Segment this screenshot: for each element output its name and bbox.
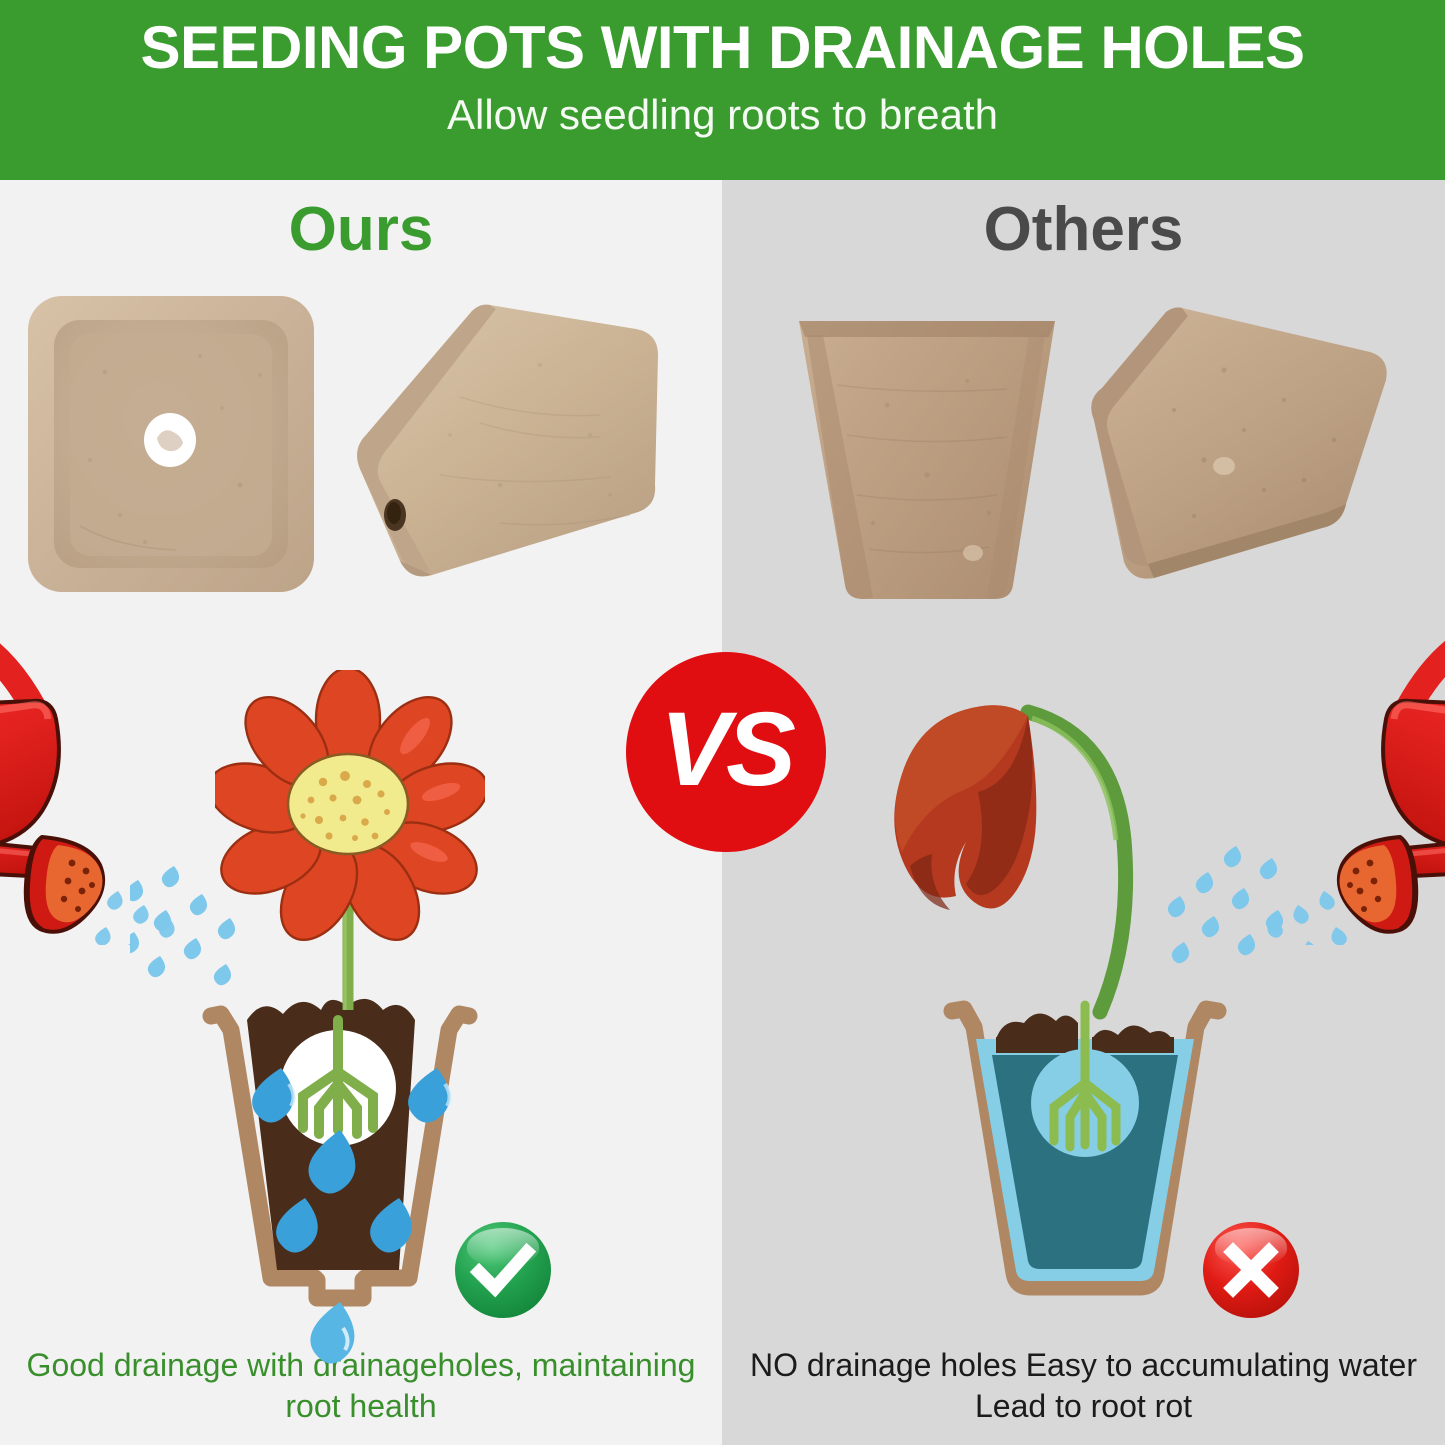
page-title: SEEDING POTS WITH DRAINAGE HOLES — [140, 16, 1304, 79]
cross-badge — [1203, 1222, 1299, 1318]
left-comparison-panel: Ours — [0, 180, 722, 1445]
vs-badge: VS — [626, 652, 826, 852]
page-subtitle: Allow seedling roots to breath — [447, 93, 998, 137]
pot-without-drainage-illustration — [930, 975, 1240, 1335]
square-pot-top-view-with-drainage-hole-photo — [10, 280, 330, 610]
header-banner: SEEDING POTS WITH DRAINAGE HOLES Allow s… — [0, 0, 1445, 180]
right-comparison-panel: Others — [722, 180, 1445, 1445]
wilted-red-flower-illustration — [832, 660, 1162, 1020]
panel-label-others: Others — [722, 194, 1445, 265]
infographic-page: SEEDING POTS WITH DRAINAGE HOLES Allow s… — [0, 0, 1445, 1445]
pot-inverted-side-view-with-drainage-hole-photo — [340, 285, 685, 605]
vs-label: VS — [660, 697, 792, 802]
check-badge — [455, 1222, 551, 1318]
panel-label-ours: Ours — [0, 194, 722, 265]
tapered-pot-no-hole-photo — [777, 285, 1077, 615]
pot-with-good-drainage-illustration — [185, 980, 495, 1380]
pot-inverted-no-hole-photo — [1084, 290, 1414, 610]
caption-others: NO drainage holes Easy to accumulating w… — [722, 1345, 1445, 1427]
water-spray-droplets-right — [1122, 840, 1312, 990]
water-spray-droplets-left — [130, 860, 330, 1010]
